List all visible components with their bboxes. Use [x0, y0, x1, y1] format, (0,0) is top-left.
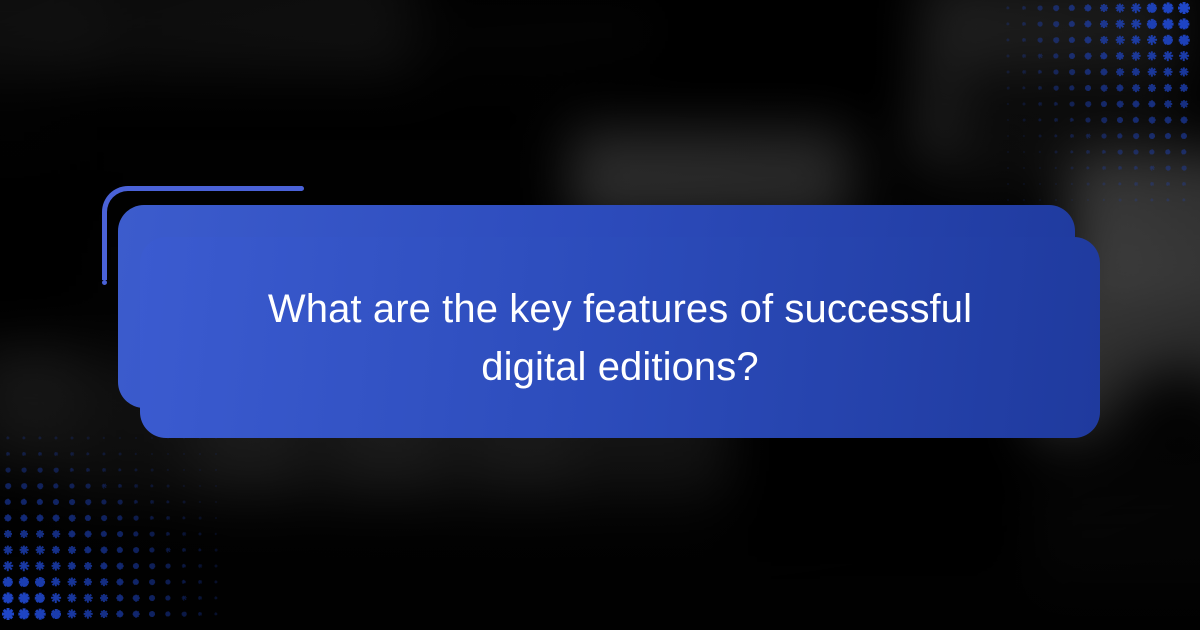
- star-icon: [16, 526, 32, 542]
- star-icon: [1144, 112, 1160, 128]
- star-icon: [176, 526, 192, 542]
- star-icon: [208, 574, 224, 590]
- star-icon: [1160, 32, 1176, 48]
- star-icon: [1080, 80, 1096, 96]
- star-icon: [16, 510, 32, 526]
- star-icon: [80, 446, 96, 462]
- star-icon: [1016, 176, 1032, 192]
- star-icon: [64, 590, 80, 606]
- star-icon: [192, 462, 208, 478]
- star-icon: [1112, 192, 1128, 208]
- star-icon: [96, 590, 112, 606]
- star-icon: [1032, 160, 1048, 176]
- star-icon: [32, 574, 48, 590]
- star-icon: [64, 494, 80, 510]
- star-icon: [1096, 192, 1112, 208]
- star-icon: [160, 574, 176, 590]
- social-card-canvas: What are the key features of successful …: [0, 0, 1200, 630]
- star-icon: [64, 446, 80, 462]
- star-icon: [48, 446, 64, 462]
- star-icon: [1016, 128, 1032, 144]
- star-pattern-bottom-left: [0, 430, 230, 630]
- star-icon: [96, 430, 112, 446]
- star-icon: [112, 574, 128, 590]
- star-icon: [1032, 80, 1048, 96]
- star-icon: [176, 494, 192, 510]
- star-icon: [1160, 0, 1176, 16]
- star-icon: [1080, 112, 1096, 128]
- star-icon: [144, 542, 160, 558]
- star-icon: [96, 574, 112, 590]
- star-icon: [1096, 64, 1112, 80]
- star-icon: [1176, 160, 1192, 176]
- star-icon: [112, 542, 128, 558]
- star-icon: [0, 606, 16, 622]
- star-icon: [1160, 96, 1176, 112]
- star-icon: [1064, 48, 1080, 64]
- star-icon: [112, 430, 128, 446]
- star-icon: [1048, 176, 1064, 192]
- star-icon: [144, 574, 160, 590]
- star-icon: [128, 542, 144, 558]
- star-icon: [160, 558, 176, 574]
- star-icon: [64, 606, 80, 622]
- star-icon: [16, 494, 32, 510]
- star-icon: [208, 590, 224, 606]
- star-icon: [1016, 48, 1032, 64]
- star-icon: [1160, 16, 1176, 32]
- star-icon: [1016, 80, 1032, 96]
- star-icon: [1128, 96, 1144, 112]
- star-icon: [1016, 0, 1032, 16]
- star-icon: [32, 446, 48, 462]
- star-icon: [160, 606, 176, 622]
- star-icon: [144, 478, 160, 494]
- star-icon: [1160, 112, 1176, 128]
- star-icon: [1048, 112, 1064, 128]
- star-pattern-row: [1000, 48, 1200, 64]
- star-icon: [1016, 32, 1032, 48]
- star-icon: [192, 574, 208, 590]
- star-icon: [192, 542, 208, 558]
- star-pattern-row: [0, 526, 230, 542]
- star-icon: [16, 590, 32, 606]
- star-icon: [0, 494, 16, 510]
- star-icon: [64, 462, 80, 478]
- star-icon: [1144, 64, 1160, 80]
- star-icon: [1080, 32, 1096, 48]
- star-icon: [1128, 112, 1144, 128]
- star-icon: [160, 494, 176, 510]
- star-icon: [1016, 160, 1032, 176]
- star-icon: [1064, 192, 1080, 208]
- star-icon: [112, 590, 128, 606]
- star-icon: [192, 510, 208, 526]
- star-icon: [208, 478, 224, 494]
- star-icon: [1000, 128, 1016, 144]
- star-icon: [1032, 128, 1048, 144]
- star-pattern-row: [0, 462, 230, 478]
- star-icon: [128, 574, 144, 590]
- star-icon: [176, 558, 192, 574]
- star-icon: [1032, 144, 1048, 160]
- star-icon: [1048, 96, 1064, 112]
- star-icon: [1112, 16, 1128, 32]
- star-icon: [16, 430, 32, 446]
- star-icon: [1000, 48, 1016, 64]
- star-icon: [1096, 160, 1112, 176]
- star-icon: [160, 478, 176, 494]
- star-icon: [208, 526, 224, 542]
- star-icon: [1160, 48, 1176, 64]
- star-icon: [1064, 96, 1080, 112]
- star-icon: [1000, 144, 1016, 160]
- star-icon: [1096, 16, 1112, 32]
- star-icon: [16, 542, 32, 558]
- star-icon: [80, 430, 96, 446]
- star-pattern-row: [1000, 112, 1200, 128]
- star-icon: [1064, 80, 1080, 96]
- star-icon: [192, 446, 208, 462]
- star-icon: [1144, 192, 1160, 208]
- star-icon: [1032, 16, 1048, 32]
- star-icon: [1128, 176, 1144, 192]
- star-icon: [1176, 128, 1192, 144]
- headline-container: What are the key features of successful …: [140, 237, 1100, 438]
- star-icon: [176, 446, 192, 462]
- star-icon: [1048, 80, 1064, 96]
- star-icon: [1032, 96, 1048, 112]
- star-icon: [96, 606, 112, 622]
- star-icon: [112, 526, 128, 542]
- star-icon: [128, 494, 144, 510]
- star-icon: [1160, 80, 1176, 96]
- star-icon: [96, 526, 112, 542]
- star-icon: [1096, 48, 1112, 64]
- star-icon: [192, 606, 208, 622]
- star-pattern-row: [1000, 128, 1200, 144]
- star-icon: [1000, 32, 1016, 48]
- star-icon: [80, 542, 96, 558]
- star-icon: [1032, 176, 1048, 192]
- star-icon: [128, 558, 144, 574]
- star-icon: [1128, 160, 1144, 176]
- star-pattern-row: [0, 478, 230, 494]
- star-icon: [48, 574, 64, 590]
- star-icon: [0, 446, 16, 462]
- star-icon: [1160, 176, 1176, 192]
- star-icon: [48, 462, 64, 478]
- star-icon: [192, 478, 208, 494]
- star-icon: [1112, 176, 1128, 192]
- star-icon: [1112, 0, 1128, 16]
- star-pattern-row: [1000, 0, 1200, 16]
- star-icon: [1016, 16, 1032, 32]
- star-icon: [1016, 112, 1032, 128]
- star-icon: [32, 430, 48, 446]
- star-icon: [1048, 48, 1064, 64]
- star-icon: [144, 526, 160, 542]
- star-icon: [1112, 64, 1128, 80]
- star-icon: [192, 494, 208, 510]
- star-icon: [1080, 0, 1096, 16]
- star-icon: [1160, 64, 1176, 80]
- star-icon: [1096, 0, 1112, 16]
- star-icon: [1000, 16, 1016, 32]
- star-icon: [0, 558, 16, 574]
- star-icon: [1096, 112, 1112, 128]
- star-icon: [128, 446, 144, 462]
- star-icon: [1096, 144, 1112, 160]
- star-icon: [48, 494, 64, 510]
- star-icon: [1176, 80, 1192, 96]
- star-icon: [96, 462, 112, 478]
- star-icon: [32, 526, 48, 542]
- star-icon: [32, 606, 48, 622]
- star-icon: [128, 526, 144, 542]
- star-icon: [0, 510, 16, 526]
- star-pattern-top-right: [1000, 0, 1200, 220]
- star-icon: [1176, 144, 1192, 160]
- page-title: What are the key features of successful …: [220, 280, 1020, 396]
- star-icon: [1144, 96, 1160, 112]
- star-icon: [80, 526, 96, 542]
- star-icon: [1096, 128, 1112, 144]
- star-icon: [112, 606, 128, 622]
- star-icon: [48, 590, 64, 606]
- star-icon: [1016, 144, 1032, 160]
- star-icon: [128, 590, 144, 606]
- star-icon: [96, 510, 112, 526]
- star-icon: [1112, 80, 1128, 96]
- star-icon: [80, 606, 96, 622]
- star-icon: [32, 590, 48, 606]
- star-icon: [1048, 128, 1064, 144]
- star-icon: [48, 542, 64, 558]
- star-icon: [80, 558, 96, 574]
- star-icon: [1080, 144, 1096, 160]
- star-icon: [1144, 16, 1160, 32]
- star-icon: [144, 606, 160, 622]
- star-icon: [1064, 0, 1080, 16]
- star-icon: [208, 494, 224, 510]
- star-icon: [32, 462, 48, 478]
- star-icon: [1080, 176, 1096, 192]
- star-icon: [48, 526, 64, 542]
- star-icon: [64, 430, 80, 446]
- star-icon: [0, 430, 16, 446]
- star-pattern-row: [0, 494, 230, 510]
- star-pattern-row: [1000, 176, 1200, 192]
- star-icon: [96, 478, 112, 494]
- star-icon: [1064, 176, 1080, 192]
- star-icon: [96, 558, 112, 574]
- star-icon: [1048, 64, 1064, 80]
- star-icon: [48, 478, 64, 494]
- star-icon: [112, 558, 128, 574]
- star-pattern-row: [1000, 144, 1200, 160]
- star-icon: [32, 558, 48, 574]
- star-icon: [1080, 48, 1096, 64]
- star-pattern-row: [0, 606, 230, 622]
- star-pattern-row: [0, 510, 230, 526]
- star-icon: [144, 510, 160, 526]
- star-icon: [1064, 64, 1080, 80]
- star-icon: [144, 462, 160, 478]
- star-icon: [160, 526, 176, 542]
- star-icon: [1064, 16, 1080, 32]
- star-pattern-row: [0, 558, 230, 574]
- star-icon: [64, 510, 80, 526]
- star-icon: [0, 542, 16, 558]
- star-icon: [160, 510, 176, 526]
- star-icon: [112, 510, 128, 526]
- star-icon: [1144, 0, 1160, 16]
- star-icon: [1048, 160, 1064, 176]
- star-icon: [1080, 96, 1096, 112]
- star-pattern-row: [1000, 64, 1200, 80]
- star-icon: [1080, 128, 1096, 144]
- star-icon: [1176, 32, 1192, 48]
- star-icon: [1160, 144, 1176, 160]
- star-icon: [80, 462, 96, 478]
- star-icon: [1128, 192, 1144, 208]
- star-icon: [1128, 80, 1144, 96]
- star-icon: [208, 558, 224, 574]
- star-icon: [32, 542, 48, 558]
- star-icon: [176, 590, 192, 606]
- star-icon: [48, 510, 64, 526]
- star-icon: [1128, 32, 1144, 48]
- star-icon: [1000, 112, 1016, 128]
- star-icon: [1128, 64, 1144, 80]
- star-icon: [1080, 64, 1096, 80]
- star-icon: [144, 590, 160, 606]
- star-icon: [0, 574, 16, 590]
- star-icon: [160, 542, 176, 558]
- star-icon: [208, 446, 224, 462]
- star-icon: [1176, 0, 1192, 16]
- star-icon: [1176, 48, 1192, 64]
- star-icon: [64, 526, 80, 542]
- star-icon: [1128, 48, 1144, 64]
- star-icon: [1160, 192, 1176, 208]
- star-icon: [48, 606, 64, 622]
- star-icon: [192, 526, 208, 542]
- star-icon: [1096, 96, 1112, 112]
- star-icon: [1112, 128, 1128, 144]
- star-icon: [1080, 192, 1096, 208]
- star-icon: [48, 558, 64, 574]
- star-pattern-row: [0, 574, 230, 590]
- star-pattern-row: [0, 590, 230, 606]
- star-icon: [1144, 48, 1160, 64]
- star-icon: [176, 542, 192, 558]
- star-icon: [160, 590, 176, 606]
- star-icon: [176, 606, 192, 622]
- star-icon: [112, 446, 128, 462]
- star-icon: [32, 494, 48, 510]
- star-icon: [112, 494, 128, 510]
- star-icon: [1144, 144, 1160, 160]
- star-icon: [112, 478, 128, 494]
- star-pattern-row: [1000, 160, 1200, 176]
- star-icon: [176, 462, 192, 478]
- star-icon: [1032, 0, 1048, 16]
- star-icon: [1000, 160, 1016, 176]
- star-icon: [48, 430, 64, 446]
- star-icon: [1144, 32, 1160, 48]
- star-icon: [1032, 48, 1048, 64]
- star-icon: [1064, 128, 1080, 144]
- star-icon: [64, 558, 80, 574]
- star-icon: [1144, 176, 1160, 192]
- star-icon: [1016, 64, 1032, 80]
- star-icon: [1176, 64, 1192, 80]
- star-icon: [128, 606, 144, 622]
- star-icon: [144, 558, 160, 574]
- star-icon: [144, 494, 160, 510]
- star-icon: [1112, 160, 1128, 176]
- star-icon: [1000, 96, 1016, 112]
- star-icon: [80, 494, 96, 510]
- star-icon: [1032, 112, 1048, 128]
- star-icon: [1096, 176, 1112, 192]
- star-icon: [1048, 16, 1064, 32]
- star-icon: [64, 542, 80, 558]
- star-icon: [160, 462, 176, 478]
- star-icon: [1000, 0, 1016, 16]
- star-icon: [1176, 176, 1192, 192]
- star-icon: [1064, 144, 1080, 160]
- star-pattern-row: [1000, 32, 1200, 48]
- star-icon: [1064, 160, 1080, 176]
- star-icon: [1032, 64, 1048, 80]
- star-icon: [1112, 112, 1128, 128]
- star-icon: [1112, 32, 1128, 48]
- star-icon: [0, 590, 16, 606]
- star-icon: [16, 478, 32, 494]
- star-icon: [1112, 48, 1128, 64]
- star-icon: [80, 510, 96, 526]
- star-icon: [1112, 96, 1128, 112]
- star-icon: [1112, 144, 1128, 160]
- star-icon: [16, 574, 32, 590]
- star-icon: [1176, 96, 1192, 112]
- star-icon: [0, 462, 16, 478]
- star-icon: [80, 590, 96, 606]
- star-icon: [1000, 176, 1016, 192]
- star-icon: [16, 446, 32, 462]
- star-icon: [128, 462, 144, 478]
- star-icon: [1032, 32, 1048, 48]
- star-icon: [176, 478, 192, 494]
- star-icon: [208, 542, 224, 558]
- star-icon: [64, 478, 80, 494]
- star-icon: [1144, 80, 1160, 96]
- star-icon: [16, 462, 32, 478]
- star-icon: [0, 526, 16, 542]
- star-icon: [1064, 112, 1080, 128]
- star-icon: [1096, 32, 1112, 48]
- star-icon: [1144, 128, 1160, 144]
- star-icon: [16, 558, 32, 574]
- star-icon: [1000, 80, 1016, 96]
- star-icon: [1160, 160, 1176, 176]
- star-icon: [1128, 144, 1144, 160]
- star-pattern-row: [0, 446, 230, 462]
- star-icon: [16, 606, 32, 622]
